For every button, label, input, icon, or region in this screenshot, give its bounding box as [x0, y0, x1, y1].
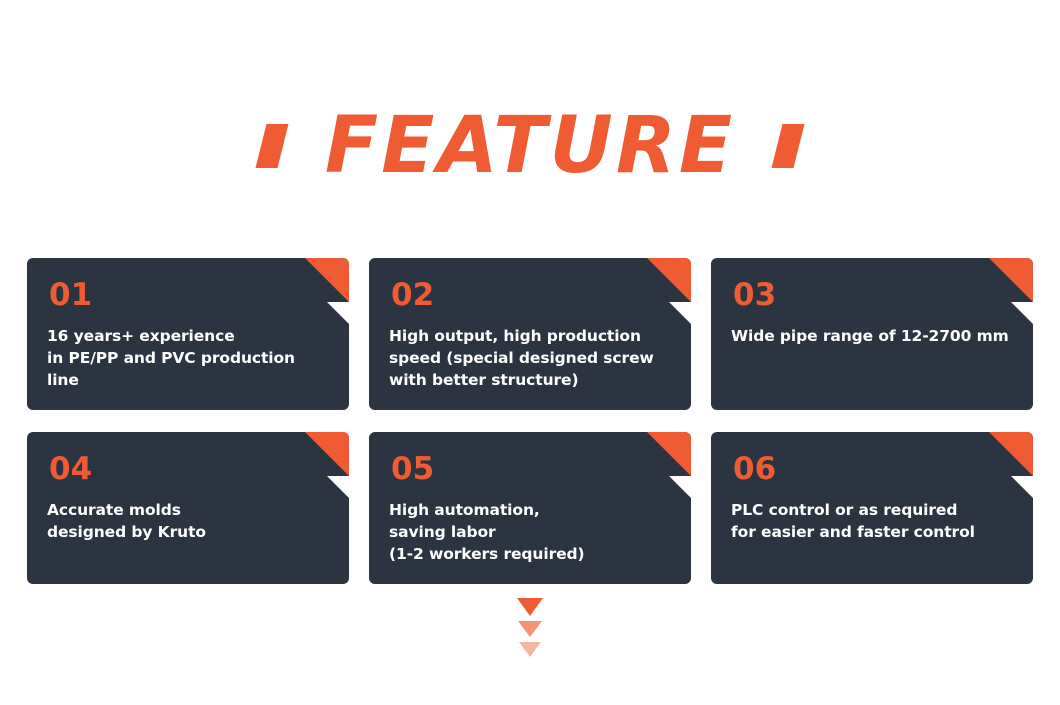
feature-card: 01 16 years+ experience in PE/PP and PVC… — [27, 258, 349, 410]
feature-card: 05 High automation, saving labor (1-2 wo… — [369, 432, 691, 584]
feature-card-text: 16 years+ experience in PE/PP and PVC pr… — [47, 325, 329, 391]
page-title: FEATURE — [325, 107, 735, 185]
feature-card-text: High output, high production speed (spec… — [389, 325, 671, 391]
page-header: FEATURE — [0, 96, 1060, 196]
slash-accent-left — [255, 124, 288, 168]
folded-corner-icon — [989, 432, 1033, 476]
feature-card-number: 03 — [733, 280, 1013, 311]
down-arrow-icon — [517, 598, 543, 616]
feature-card-grid: 01 16 years+ experience in PE/PP and PVC… — [27, 258, 1034, 584]
feature-card-text: Accurate molds designed by Kruto — [47, 499, 329, 543]
down-arrow-icon — [518, 621, 542, 637]
slash-accent-right — [772, 124, 805, 168]
feature-card-text: High automation, saving labor (1-2 worke… — [389, 499, 671, 565]
down-arrow-icon — [519, 642, 541, 657]
folded-corner-icon — [647, 258, 691, 302]
feature-card-text: Wide pipe range of 12-2700 mm — [731, 325, 1013, 347]
folded-corner-icon — [305, 432, 349, 476]
feature-card-text: PLC control or as required for easier an… — [731, 499, 1013, 543]
feature-card: 03 Wide pipe range of 12-2700 mm — [711, 258, 1033, 410]
feature-card: 06 PLC control or as required for easier… — [711, 432, 1033, 584]
feature-card: 04 Accurate molds designed by Kruto — [27, 432, 349, 584]
folded-corner-icon — [989, 258, 1033, 302]
feature-card: 02 High output, high production speed (s… — [369, 258, 691, 410]
scroll-down-indicator — [0, 598, 1060, 657]
feature-card-number: 06 — [733, 454, 1013, 485]
feature-card-number: 02 — [391, 280, 671, 311]
feature-card-number: 05 — [391, 454, 671, 485]
folded-corner-icon — [305, 258, 349, 302]
feature-card-number: 01 — [49, 280, 329, 311]
folded-corner-icon — [647, 432, 691, 476]
feature-card-number: 04 — [49, 454, 329, 485]
